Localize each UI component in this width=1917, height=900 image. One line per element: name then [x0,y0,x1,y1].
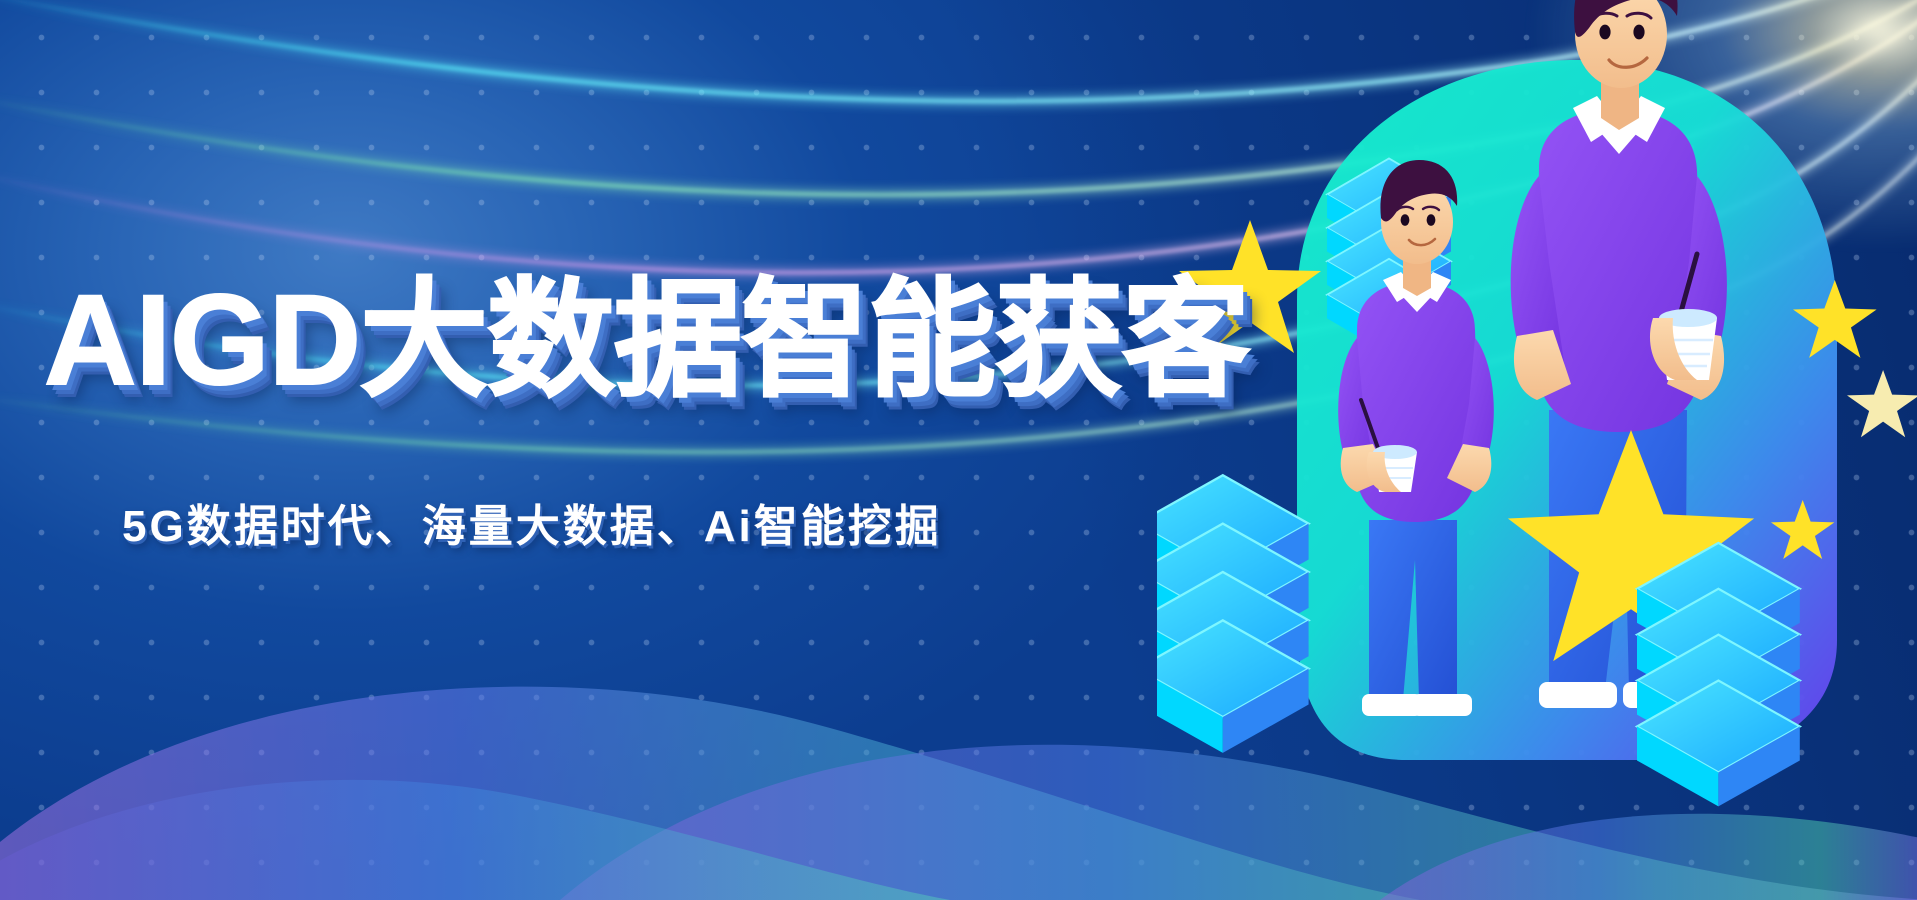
server-stack-right [1637,543,1800,806]
hero-illustration [1157,0,1917,900]
star-small-right [1847,370,1917,437]
server-stack-left [1157,475,1309,753]
page-title: AIGD大数据智能获客 [44,276,1080,407]
banner-subtitle: 5G数据时代、海量大数据、Ai智能挖掘 [122,490,1080,554]
banner-stage: AIGD大数据智能获客 5G数据时代、海量大数据、Ai智能挖掘 [0,0,1917,900]
banner-copy: AIGD大数据智能获客 5G数据时代、海量大数据、Ai智能挖掘 [0,0,1080,900]
